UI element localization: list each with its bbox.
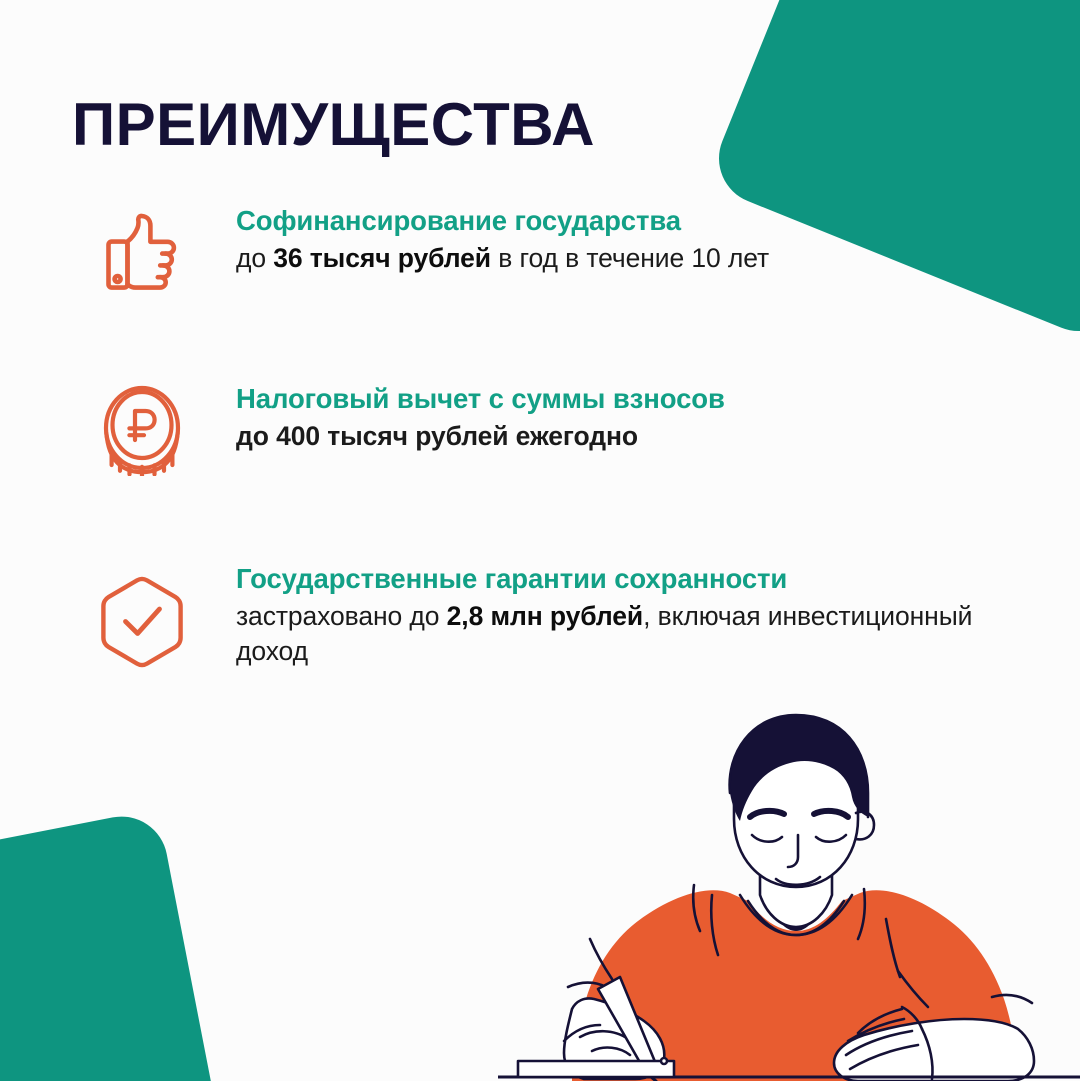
benefit-text-state-guarantee: Государственные гарантии сохранности зас… — [194, 562, 1000, 669]
teal-shape-bottom-left — [0, 809, 234, 1081]
benefit-heading: Налоговый вычет с суммы взносов — [236, 382, 1000, 416]
thumbs-up-icon — [90, 210, 194, 296]
ruble-coin-icon — [90, 384, 194, 476]
benefit-item-state-guarantee: Государственные гарантии сохранности зас… — [0, 562, 1000, 692]
benefit-item-cofinancing: Софинансирование государства до 36 тысяч… — [0, 204, 1000, 334]
page-title: ПРЕИМУЩЕСТВА — [72, 92, 595, 158]
benefits-list: Софинансирование государства до 36 тысяч… — [0, 204, 1000, 692]
hexagon-check-icon — [90, 576, 194, 668]
benefit-heading: Государственные гарантии сохранности — [236, 562, 1000, 596]
benefit-text-tax-deduction: Налоговый вычет с суммы взносов до 400 т… — [194, 382, 1000, 454]
benefit-body: застраховано до 2,8 млн рублей, включая … — [236, 599, 1000, 669]
benefit-body: до 400 тысяч рублей ежегодно — [236, 419, 1000, 454]
benefit-item-tax-deduction: Налоговый вычет с суммы взносов до 400 т… — [0, 382, 1000, 512]
benefit-heading: Софинансирование государства — [236, 204, 1000, 238]
benefit-body: до 36 тысяч рублей в год в течение 10 ле… — [236, 241, 1000, 276]
man-writing-illustration — [498, 689, 1080, 1081]
infographic-poster: ПРЕИМУЩЕСТВА Софинансирование государств… — [0, 0, 1080, 1081]
benefit-text-cofinancing: Софинансирование государства до 36 тысяч… — [194, 204, 1000, 276]
